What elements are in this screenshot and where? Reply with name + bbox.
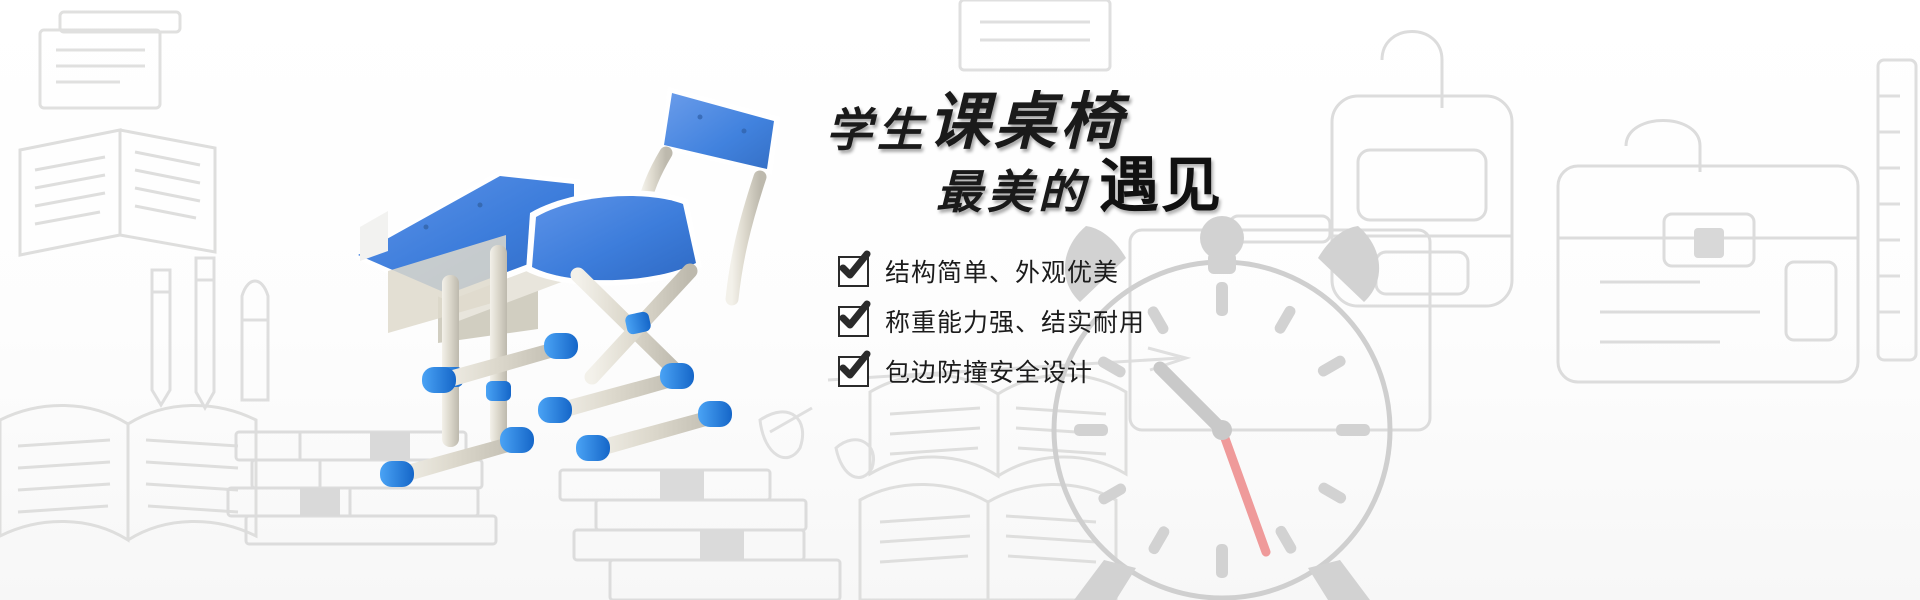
headline: 学生 课桌椅 最美的 遇见 — [818, 92, 1338, 242]
checkmark-icon — [838, 356, 869, 387]
feature-item: 包边防撞安全设计 — [838, 350, 1145, 392]
headline-line-2: 最美的 遇见 — [936, 156, 1223, 216]
feature-label: 称重能力强、结实耐用 — [885, 303, 1145, 339]
headline-line2-main: 遇见 — [1099, 156, 1223, 216]
feature-item: 称重能力强、结实耐用 — [838, 300, 1145, 342]
copy-block: 学生 课桌椅 最美的 遇见 结构简单、外观优美 — [818, 92, 1338, 392]
headline-line1-main: 课桌椅 — [928, 92, 1126, 154]
feature-label: 结构简单、外观优美 — [885, 253, 1119, 289]
feature-label: 包边防撞安全设计 — [885, 353, 1093, 389]
headline-line-1: 学生 课桌椅 — [826, 92, 1126, 154]
headline-line2-prefix: 最美的 — [936, 170, 1089, 216]
headline-line1-prefix: 学生 — [826, 108, 928, 154]
checkmark-icon — [838, 306, 869, 337]
checkmark-icon — [838, 256, 869, 287]
feature-item: 结构简单、外观优美 — [838, 250, 1145, 292]
banner-root: 学生 课桌椅 最美的 遇见 结构简单、外观优美 — [0, 0, 1920, 600]
feature-list: 结构简单、外观优美 称重能力强、结实耐用 包边防撞安全设计 — [838, 250, 1145, 400]
product-image-desk-chair — [330, 75, 810, 505]
